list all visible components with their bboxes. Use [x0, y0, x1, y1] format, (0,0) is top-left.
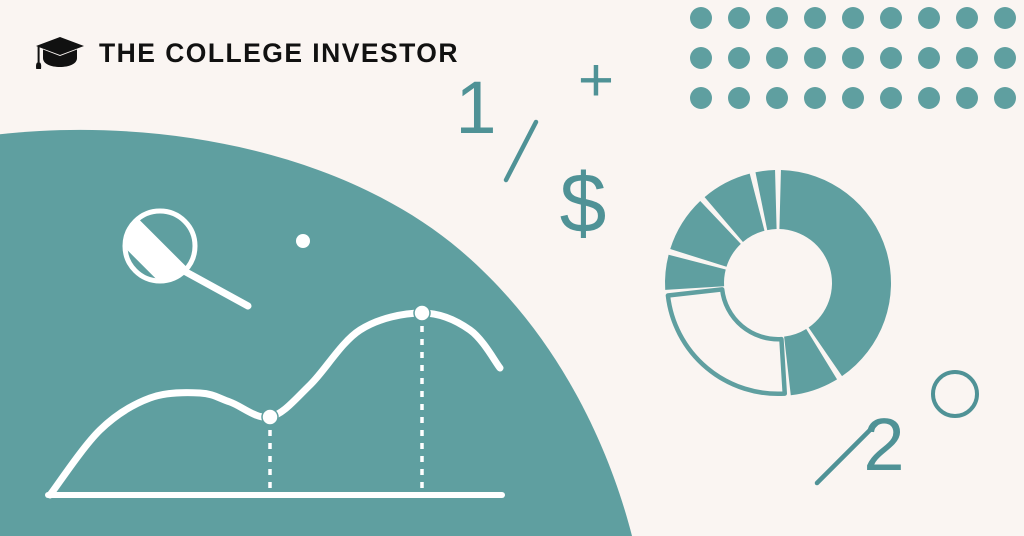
- magnifying-glass-icon: [95, 197, 248, 311]
- foreground-artwork: [0, 0, 1024, 536]
- brand-name: THE COLLEGE INVESTOR: [99, 40, 459, 67]
- chart-line-series: [50, 313, 500, 495]
- magnifier-handle: [186, 272, 248, 306]
- data-point-1: [262, 409, 278, 425]
- brand-logo[interactable]: THE COLLEGE INVESTOR: [34, 33, 459, 73]
- data-point-2: [414, 305, 430, 321]
- white-dot: [296, 234, 310, 248]
- poster-canvas: 1+$2: [0, 0, 1024, 536]
- chart-data-points: [262, 305, 430, 495]
- graduation-cap-icon: [34, 33, 86, 73]
- line-chart: [48, 305, 502, 495]
